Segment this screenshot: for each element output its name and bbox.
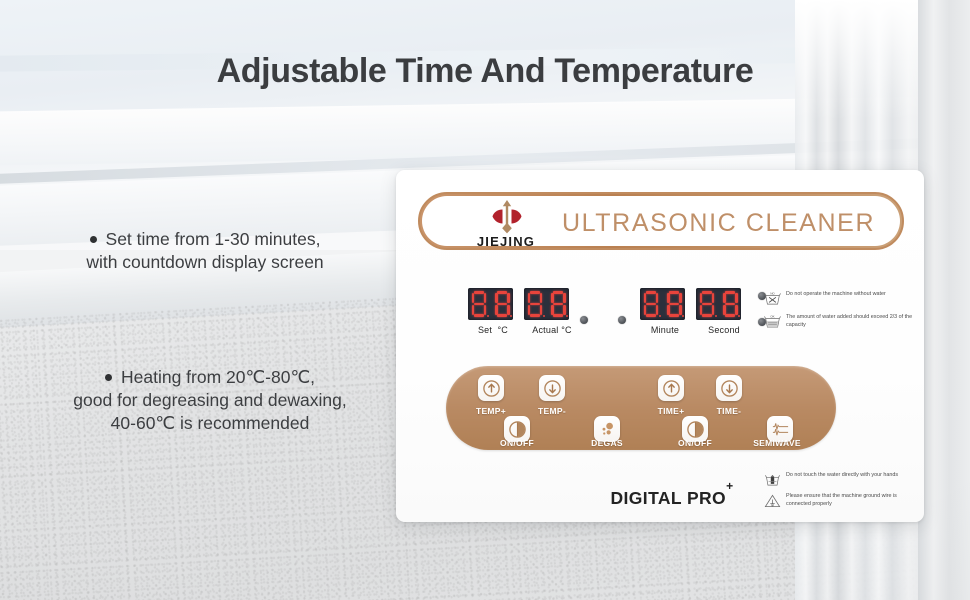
circle-down-arrow-icon	[720, 379, 739, 398]
set-temperature-display	[468, 288, 513, 320]
temp-minus-label: TEMP-	[521, 406, 583, 416]
temp-minus-button[interactable]	[539, 375, 565, 401]
seven-segment-digit	[666, 291, 682, 317]
waveform-icon	[771, 420, 790, 439]
brand-name-label: JIEJING	[458, 234, 554, 249]
semiwave-label: SEMIWAVE	[746, 438, 808, 448]
warning-text: Do not touch the water directly with you…	[786, 472, 898, 480]
svg-text:OK: OK	[770, 315, 774, 319]
seven-segment-digit	[722, 291, 738, 317]
control-button-pad: TEMP+ TEMP- TIME+ TIME-	[446, 366, 836, 450]
power-half-circle-icon	[686, 420, 705, 439]
no-water-basin-icon: NO	[764, 291, 781, 307]
warning-ground-wire: Please ensure that the machine ground wi…	[764, 493, 914, 509]
status-led	[580, 316, 588, 324]
second-display	[696, 288, 741, 320]
ultrasonic-cleaner-panel: JIEJING ULTRASONIC CLEANER Set °CActual …	[396, 170, 924, 522]
minute-label: Minute	[640, 325, 690, 335]
brand-logo: JIEJING	[458, 200, 554, 254]
warning-water-level: OK The amount of water added should exce…	[764, 314, 914, 330]
time-plus-button[interactable]	[658, 375, 684, 401]
model-badge: DIGITAL PRO+	[592, 486, 752, 509]
feature-line: Set time from 1-30 minutes,	[20, 228, 390, 251]
set-label: Set °C	[468, 325, 518, 335]
time-minus-label: TIME-	[698, 406, 760, 416]
timer-display-group: MinuteSecond	[640, 288, 752, 335]
feature-text: Set time from 1-30 minutes,	[106, 229, 321, 249]
device-title: ULTRASONIC CLEANER	[562, 209, 892, 238]
model-badge-text: DIGITAL PRO	[611, 488, 727, 508]
warning-text: The amount of water added should exceed …	[786, 314, 914, 330]
no-hand-in-water-icon	[764, 472, 781, 488]
power-half-circle-icon	[508, 420, 527, 439]
circle-up-arrow-icon	[482, 379, 501, 398]
seven-segment-digit	[527, 291, 543, 317]
warning-no-hand: Do not touch the water directly with you…	[764, 472, 898, 488]
feature-bullet-heating: Heating from 20℃-80℃, good for degreasin…	[0, 366, 420, 435]
actual-label: Actual °C	[524, 325, 580, 335]
temp-plus-button[interactable]	[478, 375, 504, 401]
degas-label: DEGAS	[576, 438, 638, 448]
circle-up-arrow-icon	[662, 379, 681, 398]
feature-text: Heating from 20℃-80℃,	[121, 367, 315, 387]
seven-segment-digit	[643, 291, 659, 317]
feature-text: good for degreasing and dewaxing,	[0, 389, 420, 412]
second-label: Second	[696, 325, 752, 335]
temp-plus-label: TEMP+	[460, 406, 522, 416]
heater-on-off-label: ON/OFF	[486, 438, 548, 448]
time-plus-label: TIME+	[640, 406, 702, 416]
temperature-display-group: Set °CActual °C	[468, 288, 580, 335]
ultrasonic-on-off-label: ON/OFF	[664, 438, 726, 448]
ok-water-basin-icon: OK	[764, 314, 781, 330]
feature-line: Heating from 20℃-80℃,	[0, 366, 420, 389]
warning-text: Do not operate the machine without water	[786, 291, 886, 299]
feature-bullet-time: Set time from 1-30 minutes, with countdo…	[20, 228, 390, 274]
bullet-dot-icon	[105, 374, 112, 381]
warning-no-water: NO Do not operate the machine without wa…	[764, 291, 886, 307]
seven-segment-digit	[471, 291, 487, 317]
seven-segment-digit	[699, 291, 715, 317]
circle-down-arrow-icon	[543, 379, 562, 398]
feature-text: 40-60℃ is recommended	[0, 412, 420, 435]
warning-triangle-icon	[764, 493, 781, 509]
page-title: Adjustable Time And Temperature	[0, 52, 970, 91]
actual-temperature-display	[524, 288, 569, 320]
time-minus-button[interactable]	[716, 375, 742, 401]
brand-header-inner: JIEJING ULTRASONIC CLEANER	[422, 196, 900, 246]
minute-display	[640, 288, 685, 320]
seven-segment-digit	[494, 291, 510, 317]
brand-header-pill: JIEJING ULTRASONIC CLEANER	[418, 192, 904, 250]
bullet-dot-icon	[90, 236, 97, 243]
temperature-display-labels: Set °CActual °C	[468, 325, 580, 335]
svg-text:NO: NO	[770, 292, 775, 296]
bubbles-icon	[598, 420, 617, 439]
warning-text: Please ensure that the machine ground wi…	[786, 493, 914, 509]
model-badge-plus: +	[726, 479, 733, 493]
jiejing-logo-icon	[484, 200, 530, 236]
timer-display-labels: MinuteSecond	[640, 325, 752, 335]
feature-text: with countdown display screen	[20, 251, 390, 274]
status-led	[618, 316, 626, 324]
seven-segment-digit	[550, 291, 566, 317]
